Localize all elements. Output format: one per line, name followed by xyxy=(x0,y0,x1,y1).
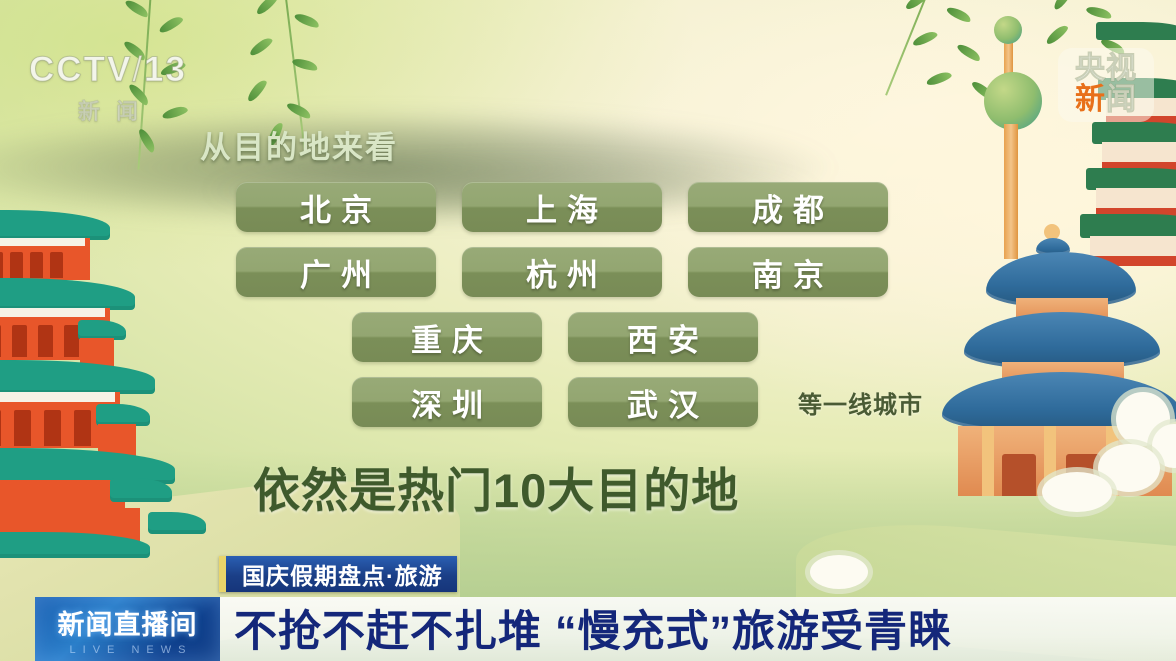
city-chip[interactable]: 上海 xyxy=(462,182,662,232)
city-chip-grid: 北京 上海 成都 广州 杭州 南京 重庆 西安 深圳 武汉 等一线城市 xyxy=(0,182,1176,442)
broadcast-screen: CCTV/13 新闻 央视 新闻 从目的地来看 北京 上海 成都 广州 杭州 南… xyxy=(0,0,1176,661)
program-logo-box: 新闻直播间 LIVE NEWS xyxy=(35,597,220,661)
city-chip[interactable]: 成都 xyxy=(688,182,888,232)
city-list-suffix: 等一线城市 xyxy=(798,385,923,420)
news-headline: 不抢不赶不扎堆 “慢充式”旅游受青睐 xyxy=(234,597,952,659)
city-chip[interactable]: 重庆 xyxy=(352,312,542,362)
city-chip[interactable]: 武汉 xyxy=(568,377,758,427)
city-chip[interactable]: 广州 xyxy=(236,247,436,297)
city-chip-row: 深圳 武汉 等一线城市 xyxy=(0,377,1176,427)
city-chip[interactable]: 北京 xyxy=(236,182,436,232)
city-chip-row: 北京 上海 成都 xyxy=(0,182,1176,232)
program-name-latin: LIVE NEWS xyxy=(63,644,193,656)
infographic-lead-text: 从目的地来看 xyxy=(200,122,398,167)
city-chip-row: 重庆 西安 xyxy=(0,312,1176,362)
city-chip[interactable]: 西安 xyxy=(568,312,758,362)
city-chip[interactable]: 杭州 xyxy=(462,247,662,297)
city-chip-row: 广州 杭州 南京 xyxy=(0,247,1176,297)
infographic-conclusion: 依然是热门10大目的地 xyxy=(253,452,739,521)
headline-bar: 不抢不赶不扎堆 “慢充式”旅游受青睐 xyxy=(220,597,1176,661)
program-name: 新闻直播间 xyxy=(58,603,198,642)
city-chip[interactable]: 深圳 xyxy=(352,377,542,427)
infographic-panel: 从目的地来看 北京 上海 成都 广州 杭州 南京 重庆 西安 深圳 武汉 等一线… xyxy=(0,0,1176,661)
topic-tag: 国庆假期盘点·旅游 xyxy=(219,556,457,592)
city-chip[interactable]: 南京 xyxy=(688,247,888,297)
